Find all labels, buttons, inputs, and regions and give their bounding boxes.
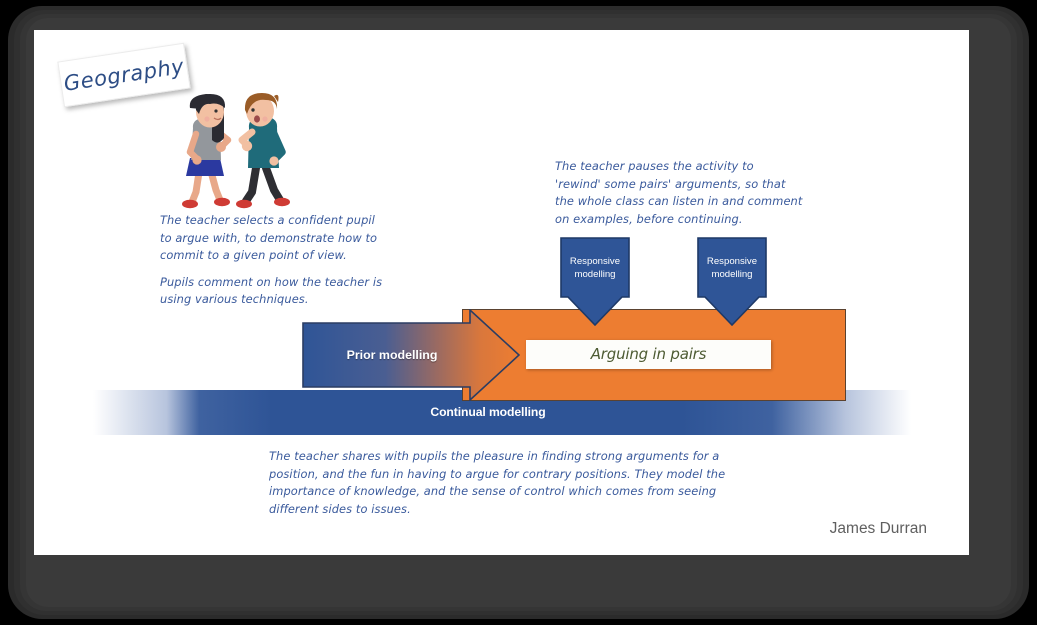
responsive-modelling-arrow-1	[560, 237, 630, 326]
note-bottom: The teacher shares with pupils the pleas…	[269, 448, 739, 518]
device-frame: Geography	[0, 0, 1037, 625]
two-children-arguing-illustration	[152, 88, 302, 213]
note-left-paragraph-1: The teacher selects a confident pupil to…	[160, 212, 385, 265]
responsive-modelling-arrow-2	[697, 237, 767, 326]
note-right-paragraph-1: The teacher pauses the activity to 'rewi…	[555, 158, 803, 228]
note-bottom-paragraph-1: The teacher shares with pupils the pleas…	[269, 448, 739, 518]
arguing-in-pairs-inset: Arguing in pairs	[526, 340, 771, 369]
presentation-slide: Geography	[34, 30, 969, 555]
note-left-paragraph-2: Pupils comment on how the teacher is usi…	[160, 274, 385, 309]
note-left: The teacher selects a confident pupil to…	[160, 212, 385, 309]
author-signature: James Durran	[830, 520, 927, 538]
prior-modelling-label: Prior modelling	[302, 309, 482, 401]
arguing-in-pairs-label: Arguing in pairs	[526, 340, 771, 369]
responsive-modelling-label-2: Responsive modelling	[697, 255, 767, 281]
responsive-modelling-label-1: Responsive modelling	[560, 255, 630, 281]
note-right: The teacher pauses the activity to 'rewi…	[555, 158, 803, 228]
